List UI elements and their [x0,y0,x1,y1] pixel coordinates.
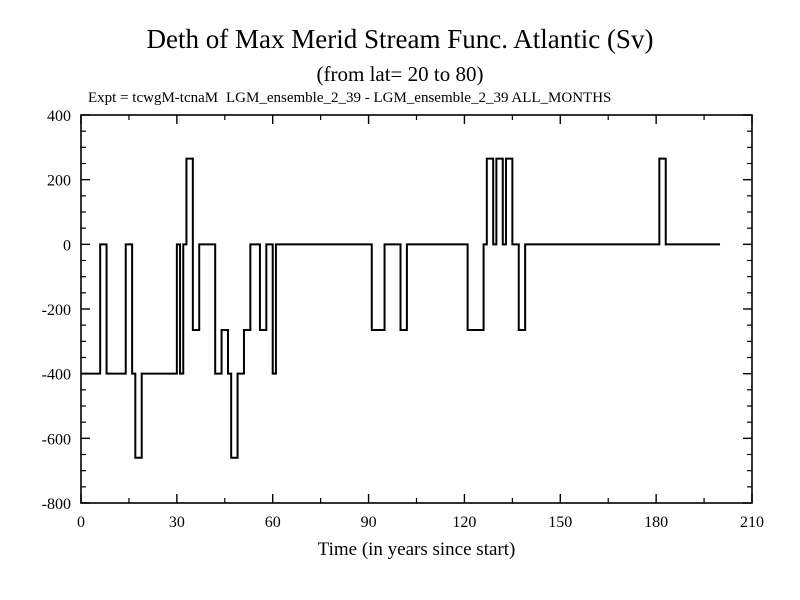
y-tick-label: -400 [42,367,71,384]
y-tick-label: -600 [42,431,71,448]
major-ticks [81,115,752,503]
y-tick-label: 400 [47,108,71,125]
x-tick-label: 90 [361,514,377,531]
axis-frame [81,115,752,503]
series-line [81,159,720,458]
x-tick-labels: 0306090120150180210 [77,514,764,531]
y-tick-label: 200 [47,173,71,190]
x-axis-title: Time (in years since start) [318,539,516,560]
plot-area: 0306090120150180210 -800-600-400-2000200… [0,0,800,600]
x-tick-label: 210 [740,514,764,531]
y-tick-label: -800 [42,496,71,513]
y-tick-label: -200 [42,302,71,319]
minor-ticks [81,115,752,503]
x-tick-label: 150 [548,514,572,531]
y-tick-labels: -800-600-400-2000200400 [42,108,71,513]
x-tick-label: 60 [265,514,281,531]
x-tick-label: 180 [644,514,668,531]
x-tick-label: 120 [452,514,476,531]
y-tick-label: 0 [63,237,71,254]
x-tick-label: 0 [77,514,85,531]
axis-titles: Time (in years since start) [318,539,516,560]
chart-figure: Deth of Max Merid Stream Func. Atlantic … [0,0,800,600]
x-tick-label: 30 [169,514,185,531]
data-series [81,159,720,458]
